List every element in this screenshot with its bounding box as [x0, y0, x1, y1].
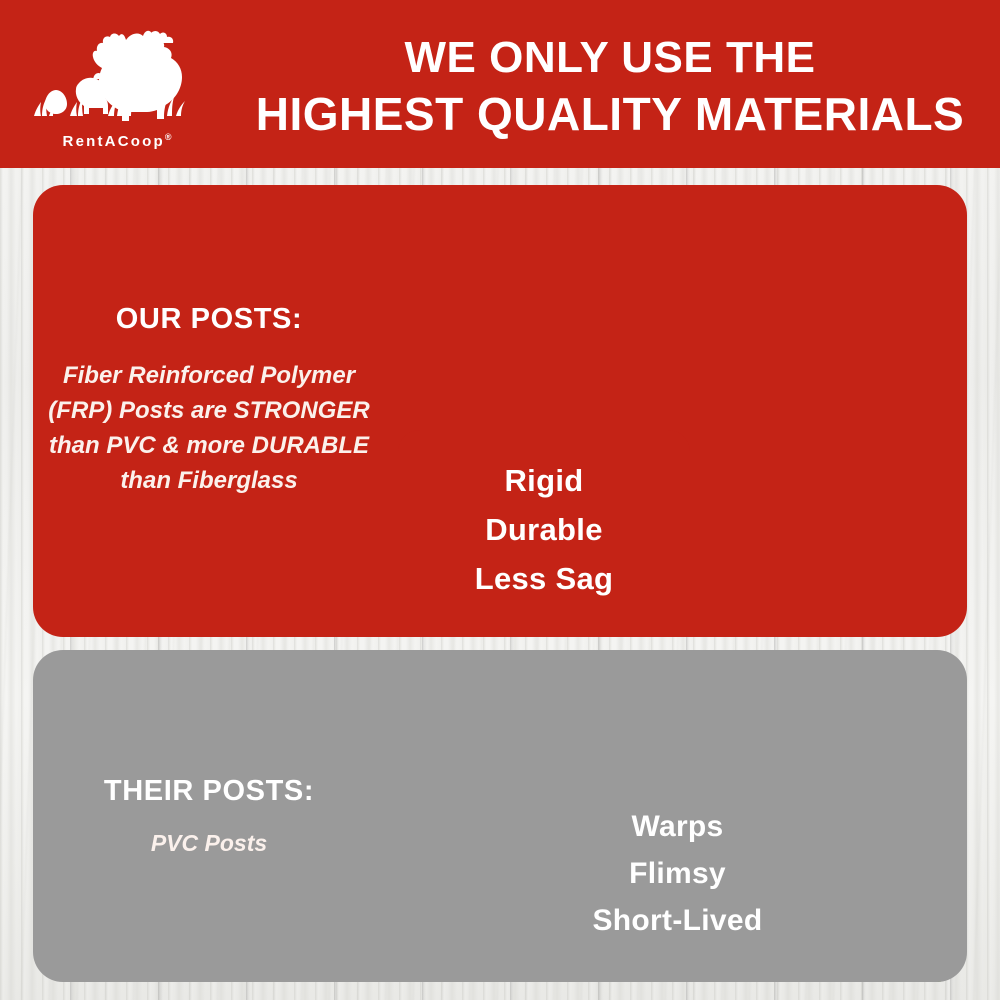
drawback-item: Flimsy [545, 850, 810, 897]
registered-mark: ® [165, 132, 172, 142]
their-posts-text-block: THEIR POSTS: PVC Posts [33, 775, 385, 861]
their-posts-card: THEIR POSTS: PVC Posts [33, 650, 967, 982]
our-posts-benefits-callout: Rigid Durable Less Sag [398, 430, 690, 626]
brand-name: RentACoop [63, 133, 165, 150]
header-title-line-1: WE ONLY USE THE [230, 30, 990, 86]
hen-chick-egg-icon [22, 28, 212, 128]
their-posts-drawbacks-callout: Warps Flimsy Short-Lived [545, 781, 810, 961]
our-posts-text-block: OUR POSTS: Fiber Reinforced Polymer (FRP… [33, 303, 385, 498]
header-banner: RentACoop® WE ONLY USE THE HIGHEST QUALI… [0, 0, 1000, 168]
their-posts-description: PVC Posts [33, 826, 385, 861]
benefit-item: Durable [398, 505, 690, 554]
our-posts-description: Fiber Reinforced Polymer (FRP) Posts are… [33, 358, 385, 498]
their-posts-heading: THEIR POSTS: [33, 775, 385, 808]
brand-wordmark: RentACoop® [22, 132, 212, 150]
header-title-line-2: HIGHEST QUALITY MATERIALS [230, 86, 990, 142]
benefit-item: Less Sag [398, 554, 690, 603]
header-title: WE ONLY USE THE HIGHEST QUALITY MATERIAL… [230, 30, 990, 142]
infographic-page: RentACoop® WE ONLY USE THE HIGHEST QUALI… [0, 0, 1000, 1000]
benefit-item: Rigid [398, 456, 690, 505]
their-posts-drawback-list: Warps Flimsy Short-Lived [545, 781, 810, 944]
brand-logo: RentACoop® [22, 28, 212, 156]
our-posts-heading: OUR POSTS: [33, 303, 385, 336]
drawback-item: Warps [545, 803, 810, 850]
our-posts-benefit-list: Rigid Durable Less Sag [398, 430, 690, 603]
drawback-item: Short-Lived [545, 897, 810, 944]
